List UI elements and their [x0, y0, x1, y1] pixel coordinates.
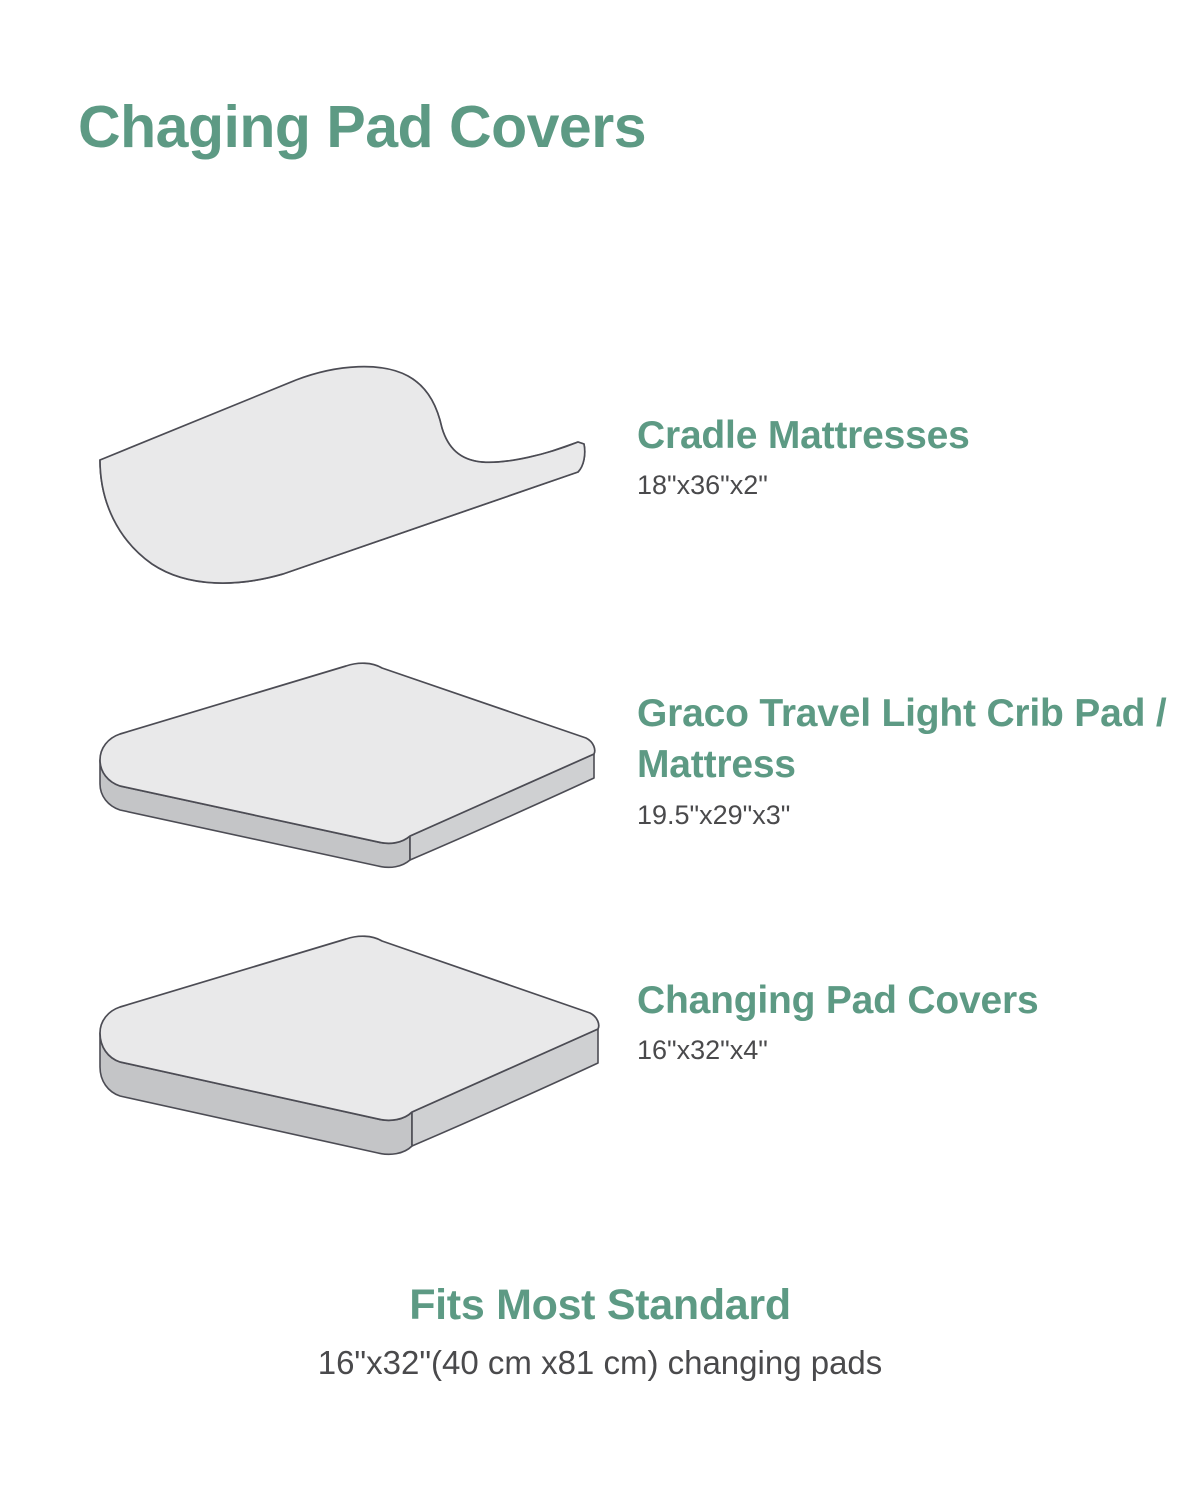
- footer-title: Fits Most Standard: [0, 1282, 1200, 1329]
- product-row: Cradle Mattresses 18"x36"x2": [0, 362, 1200, 602]
- footer-subtitle: 16"x32"(40 cm x81 cm) changing pads: [0, 1343, 1200, 1383]
- product-row: Changing Pad Covers 16"x32"x4": [0, 935, 1200, 1175]
- product-label-block: Cradle Mattresses 18"x36"x2": [637, 410, 1167, 504]
- footer: Fits Most Standard 16"x32"(40 cm x81 cm)…: [0, 1282, 1200, 1383]
- product-row: Graco Travel Light Crib Pad / Mattress 1…: [0, 660, 1200, 900]
- product-dimensions: 16"x32"x4": [637, 1032, 1167, 1068]
- product-label-block: Changing Pad Covers 16"x32"x4": [637, 975, 1167, 1069]
- product-name: Graco Travel Light Crib Pad / Mattress: [637, 688, 1167, 791]
- product-dimensions: 18"x36"x2": [637, 467, 1167, 503]
- page-title: Chaging Pad Covers: [78, 98, 646, 157]
- product-label-block: Graco Travel Light Crib Pad / Mattress 1…: [637, 688, 1167, 833]
- flat-mattress-thick-illustration: [78, 935, 618, 1175]
- product-name: Changing Pad Covers: [637, 975, 1167, 1026]
- product-name: Cradle Mattresses: [637, 410, 1167, 461]
- product-dimensions: 19.5"x29"x3": [637, 797, 1167, 833]
- flat-mattress-thin-illustration: [78, 660, 618, 900]
- contoured-changing-pad-illustration: [78, 362, 618, 602]
